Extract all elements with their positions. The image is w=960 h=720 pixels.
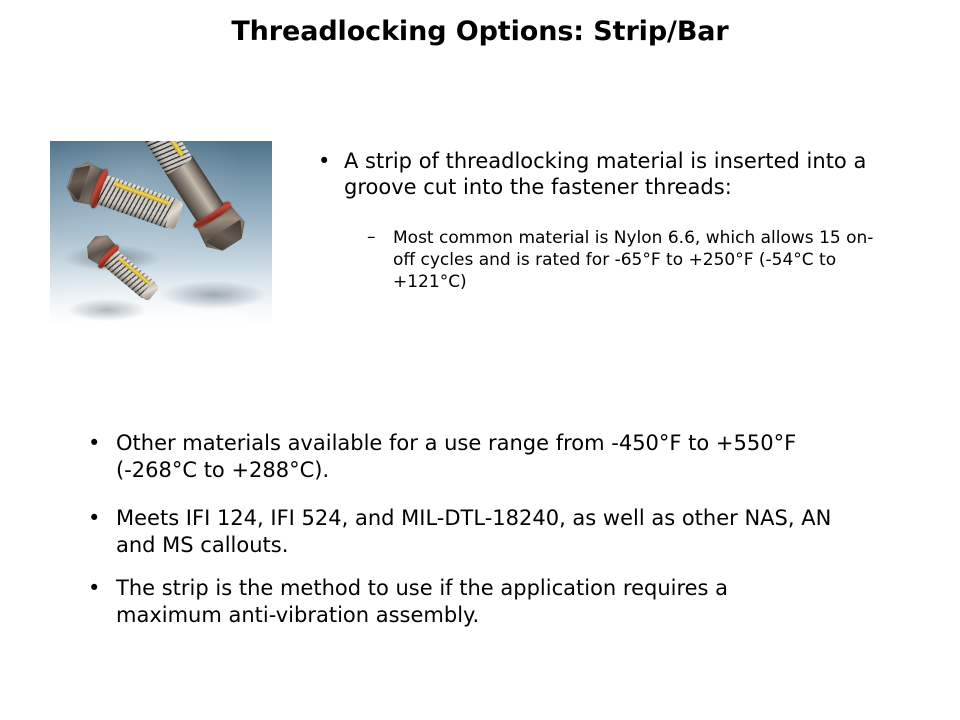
list-item-text: The strip is the method to use if the ap… — [116, 575, 838, 630]
bolts-photo — [50, 141, 272, 327]
sub-list-item-text: Most common material is Nylon 6.6, which… — [393, 227, 887, 293]
page-title: Threadlocking Options: Strip/Bar — [0, 16, 960, 47]
list-item-text: A strip of threadlocking material is ins… — [344, 148, 888, 201]
list-item: • Meets IFI 124, IFI 524, and MIL-DTL-18… — [88, 505, 838, 560]
list-item-text: Other materials available for a use rang… — [116, 430, 838, 485]
bullet-marker-dash: – — [367, 227, 393, 248]
bullet-marker: • — [88, 505, 116, 531]
list-item: • Other materials available for a use ra… — [88, 430, 838, 485]
slide-canvas: Threadlocking Options: Strip/Bar — [0, 0, 960, 720]
list-item: • The strip is the method to use if the … — [88, 575, 838, 630]
bullet-marker: • — [88, 430, 116, 456]
list-item: • A strip of threadlocking material is i… — [318, 148, 888, 201]
sub-list-item: – Most common material is Nylon 6.6, whi… — [367, 227, 887, 293]
bullet-marker: • — [318, 148, 344, 174]
list-item-text: Meets IFI 124, IFI 524, and MIL-DTL-1824… — [116, 505, 838, 560]
bullet-marker: • — [88, 575, 116, 601]
bolt-shadow-right — [162, 281, 266, 309]
